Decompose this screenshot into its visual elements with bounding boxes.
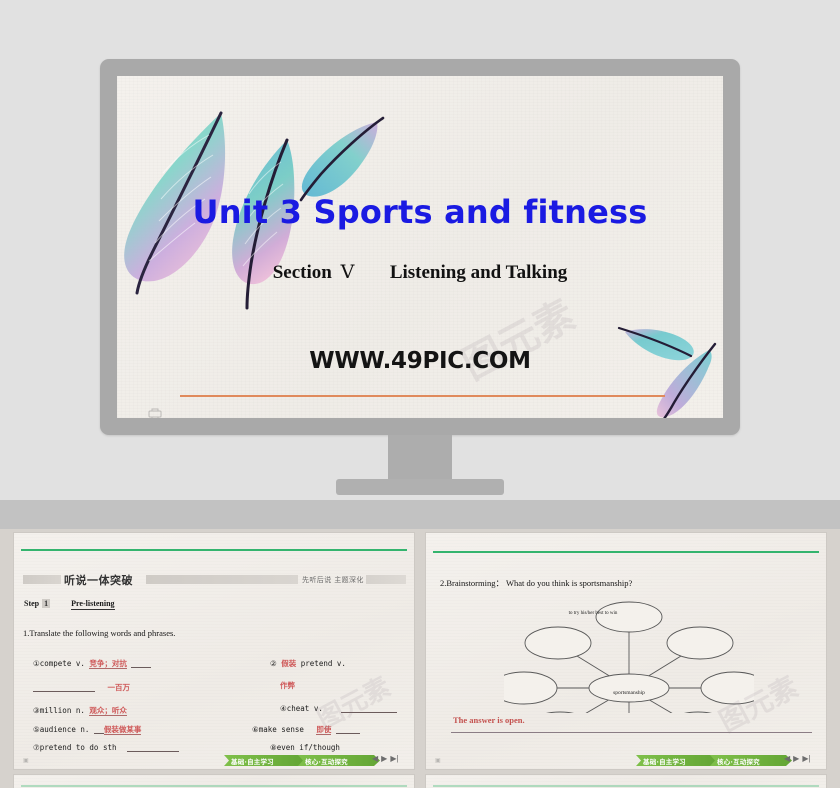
monitor-screen[interactable]: 图元素 Unit 3 Sports and fitness Section Ⅴ … xyxy=(117,76,723,418)
thumb1-header-band-left xyxy=(23,575,61,584)
word-answer: 一百万 xyxy=(108,683,131,692)
subtitle-prefix: Section xyxy=(273,262,332,283)
thumb1-step-title: Pre-listening xyxy=(71,599,114,610)
thumb1-step-row: Step1 Pre-listening xyxy=(24,599,115,608)
slide-thumb-brainstorming[interactable]: 2.Brainstorming： What do you think is sp… xyxy=(426,533,826,769)
word-answer: 假装做某事 xyxy=(104,725,142,735)
thumb2-badge-basic[interactable]: 基础·自主学习 xyxy=(636,755,718,766)
thumb1-badge-basic[interactable]: 基础·自主学习 xyxy=(224,755,306,766)
slide-url-text: WWW.49PIC.COM xyxy=(117,348,723,374)
thumb1-word-left-3: ③million n. 观众；听众 xyxy=(33,705,127,716)
subtitle-roman-numeral: Ⅴ xyxy=(337,261,359,283)
thumb1-word-right-3: ④cheat v. xyxy=(280,704,397,713)
slide-thumb-next-row-right[interactable] xyxy=(426,775,826,788)
thumb2-badge-core[interactable]: 核心·互动探究 xyxy=(710,755,792,766)
nav-next-icon[interactable]: ▶ xyxy=(793,754,799,763)
word-term: pretend to do sth xyxy=(40,743,117,752)
nav-last-icon[interactable]: ▶| xyxy=(390,754,398,763)
thumb4-accent-line xyxy=(433,785,819,787)
thumb2-answer-underline xyxy=(451,732,812,733)
word-num: ⑤ xyxy=(33,725,40,734)
nav-next-icon[interactable]: ▶ xyxy=(381,754,387,763)
monitor-stand-base xyxy=(336,479,504,495)
word-answer: 竞争；对抗 xyxy=(89,659,127,669)
word-term: audience n. xyxy=(40,725,90,734)
word-term: compete v. xyxy=(40,659,85,668)
word-num: ① xyxy=(33,659,40,668)
word-num: ⑦ xyxy=(33,743,40,752)
monitor-frame: 图元素 Unit 3 Sports and fitness Section Ⅴ … xyxy=(100,59,740,435)
slide-thumb-pre-listening[interactable]: 听说一体突破 先听后说 主题深化 Step1 Pre-listening 1.T… xyxy=(14,533,414,769)
word-term: make sense xyxy=(259,725,304,734)
word-answer: 观众；听众 xyxy=(89,706,127,716)
word-term: million n. xyxy=(40,706,85,715)
background-band xyxy=(0,500,840,529)
thumb1-word-right-2: 作弊 xyxy=(280,680,295,691)
slide-page-mark-icon xyxy=(147,407,163,418)
thumb1-step-number: 1 xyxy=(42,599,50,608)
nav-prev-icon[interactable]: ◀ xyxy=(372,754,378,763)
thumb1-badge-core[interactable]: 核心·互动探究 xyxy=(298,755,380,766)
thumb2-accent-line xyxy=(433,551,819,553)
thumb1-header-band-right xyxy=(146,575,298,584)
thumb2-instruction: 2.Brainstorming： What do you think is sp… xyxy=(440,577,632,589)
nav-last-icon[interactable]: ▶| xyxy=(802,754,810,763)
thumb1-header-subtitle: 先听后说 主题深化 xyxy=(302,575,364,585)
slide-thumb-next-row-left[interactable] xyxy=(14,775,414,788)
thumb1-word-left-5: ⑦pretend to do sth xyxy=(33,743,179,752)
thumb2-answer-note: The answer is open. xyxy=(453,715,525,725)
thumb2-mindmap-node-top: to try his/her best to win xyxy=(560,599,626,629)
thumb2-page-mark-icon: ▣ xyxy=(435,757,441,764)
thumb2-mindmap-node-center: sportsmanship xyxy=(589,679,669,707)
word-term: cheat v. xyxy=(287,704,323,713)
thumb1-word-right-5: ⑧even if/though xyxy=(270,743,340,752)
thumb1-step-label: Step xyxy=(24,599,39,608)
thumb1-page-mark-icon: ▣ xyxy=(23,757,29,764)
word-num: ③ xyxy=(33,706,40,715)
screenshot-root: 图元素 Unit 3 Sports and fitness Section Ⅴ … xyxy=(0,0,840,788)
nav-prev-icon[interactable]: ◀ xyxy=(784,754,790,763)
thumb1-header-band-tail xyxy=(366,575,406,584)
word-num: ② xyxy=(270,659,277,668)
word-num: ⑥ xyxy=(252,725,259,734)
thumb1-word-right-1: ② 假装 pretend v. xyxy=(270,658,346,669)
word-answer: 假装 xyxy=(281,659,296,668)
thumb3-accent-line xyxy=(21,785,407,787)
subtitle-suffix: Listening and Talking xyxy=(390,262,567,283)
slide-divider-rule xyxy=(180,395,665,397)
word-answer: 作弊 xyxy=(280,681,295,690)
word-num: ④ xyxy=(280,704,287,713)
word-num: ⑧ xyxy=(270,743,277,752)
thumb1-instruction: 1.Translate the following words and phra… xyxy=(23,628,175,638)
thumb1-word-left-2: 一百万 xyxy=(33,682,130,693)
word-answer: 即使 xyxy=(316,725,331,735)
word-term: even if/though xyxy=(277,743,340,752)
mindmap-top-label: to try his/her best to win xyxy=(569,611,618,617)
thumb1-word-right-4: ⑥make sense 即使 xyxy=(252,724,360,735)
thumb1-header-title: 听说一体突破 xyxy=(64,572,133,588)
mindmap-center-label: sportsmanship xyxy=(613,690,645,696)
word-term: pretend v. xyxy=(301,659,346,668)
thumb1-nav-controls[interactable]: ◀ ▶ ▶| xyxy=(372,754,399,763)
slide-title: Unit 3 Sports and fitness xyxy=(117,193,723,231)
thumb2-nav-controls[interactable]: ◀ ▶ ▶| xyxy=(784,754,811,763)
thumb1-accent-line xyxy=(21,549,407,551)
thumb1-word-left-1: ①compete v. 竞争；对抗 xyxy=(33,658,151,669)
slide-subtitle: Section Ⅴ Listening and Talking xyxy=(117,261,723,284)
monitor-stand-neck xyxy=(388,435,452,483)
thumb1-word-left-4: ⑤audience n. 假装做某事 xyxy=(33,724,141,735)
